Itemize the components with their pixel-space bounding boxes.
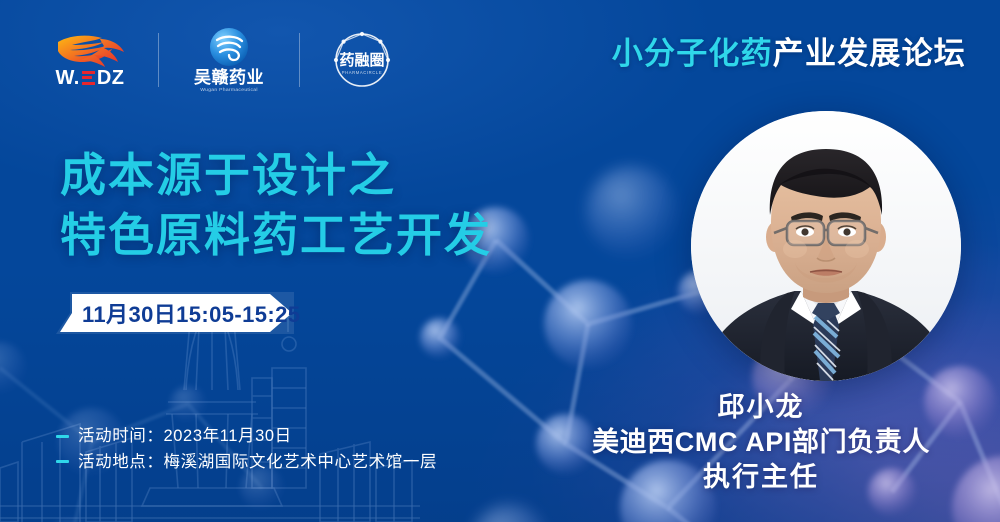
blue-swirl-globe-icon — [209, 27, 249, 67]
logo-bar: W. DZ 吴赣药业 Wugan Pha — [44, 26, 402, 94]
logo-yaorongquan-cn: 药融圈 — [339, 51, 384, 69]
speaker-subrole: 执行主任 — [546, 460, 976, 495]
speaker-portrait — [691, 111, 961, 381]
session-title-line-2: 特色原料药工艺开发 — [60, 206, 492, 266]
session-time-text: 11月30日15:05-15:25 — [56, 292, 294, 334]
event-meta-list: 活动时间：2023年11月30日 活动地点：梅溪湖国际文化艺术中心艺术馆一层 — [56, 428, 437, 470]
wedz-text-after: DZ — [97, 68, 125, 88]
wedz-text-before: W. — [55, 68, 79, 88]
speaker-role: 美迪西CMC API部门负责人 — [546, 425, 976, 460]
phoenix-flame-icon — [54, 33, 126, 67]
session-time-badge: 11月30日15:05-15:25 — [56, 292, 294, 334]
logo-divider-2 — [299, 33, 300, 87]
logo-yaorongquan-en: PHARMACIRCLE — [342, 70, 382, 75]
forum-title-highlight: 小分子化药 — [612, 36, 773, 71]
speaker-info: 邱小龙 美迪西CMC API部门负责人 执行主任 — [546, 390, 976, 495]
session-title-line-1: 成本源于设计之 — [60, 146, 492, 206]
forum-title: 小分子化药产业发展论坛 — [612, 38, 966, 69]
logo-yaorongquan[interactable]: 药融圈 PHARMACIRCLE — [322, 26, 402, 94]
dash-icon — [56, 460, 69, 463]
event-meta-row: 活动地点：梅溪湖国际文化艺术中心艺术馆一层 — [56, 454, 437, 471]
session-title: 成本源于设计之 特色原料药工艺开发 — [60, 146, 492, 266]
circular-orbit-icon: 药融圈 PHARMACIRCLE — [330, 28, 394, 92]
conference-banner: W. DZ 吴赣药业 Wugan Pha — [0, 0, 1000, 522]
logo-wedz[interactable]: W. DZ — [44, 26, 136, 94]
logo-wugan-cn: 吴赣药业 — [194, 69, 264, 86]
logo-wugan-en: Wugan Pharmaceutical — [200, 88, 258, 93]
wedz-e-bars-icon — [82, 70, 95, 85]
speaker-name: 邱小龙 — [546, 390, 976, 425]
wedz-wordmark: W. DZ — [55, 68, 124, 88]
event-meta-row: 活动时间：2023年11月30日 — [56, 428, 437, 445]
forum-title-rest: 产业发展论坛 — [773, 36, 966, 71]
logo-divider-1 — [158, 33, 159, 87]
event-venue-text: 活动地点：梅溪湖国际文化艺术中心艺术馆一层 — [78, 454, 437, 471]
dash-icon — [56, 435, 69, 438]
event-time-text: 活动时间：2023年11月30日 — [78, 428, 292, 445]
logo-wugan[interactable]: 吴赣药业 Wugan Pharmaceutical — [181, 26, 277, 94]
speaker-photo — [691, 111, 961, 381]
